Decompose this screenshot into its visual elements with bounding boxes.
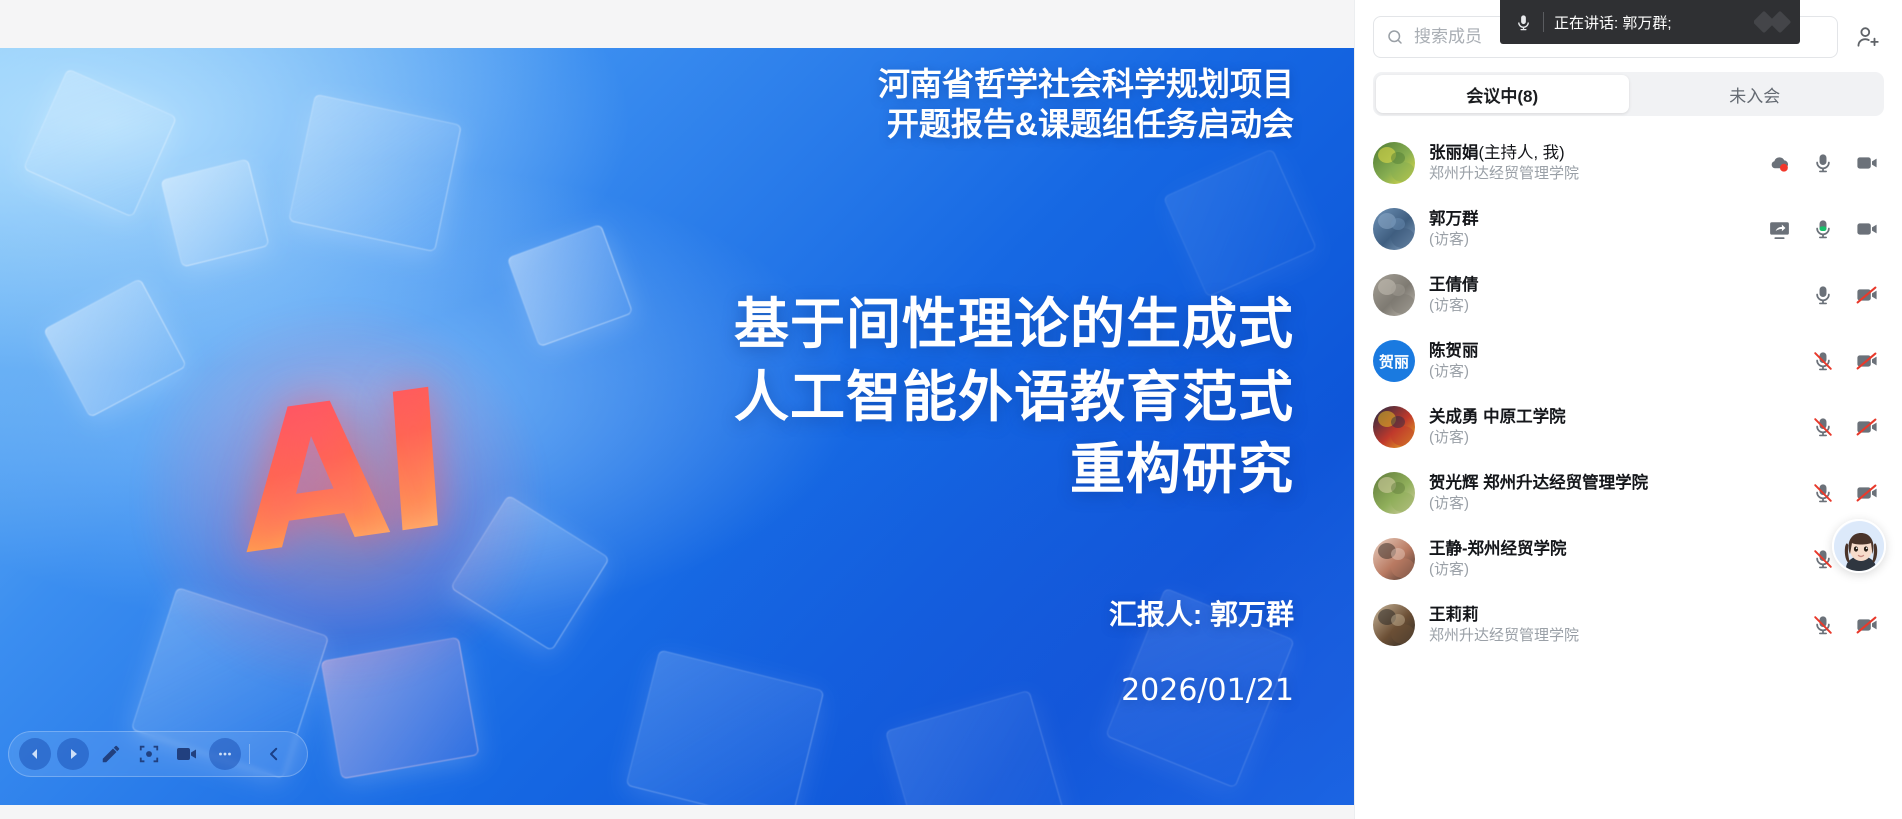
presentation-slide[interactable]: AI 河南省哲学社会科学规划项目 开题报告&课题组任务启动会 基于间性理论的生成… bbox=[0, 48, 1354, 805]
participant-info: 王静-郑州经贸学院(访客) bbox=[1429, 538, 1810, 581]
microphone-icon[interactable] bbox=[1810, 282, 1836, 308]
pencil-icon bbox=[100, 743, 122, 765]
microphone-glyph bbox=[1812, 350, 1834, 372]
participant-name: 郭万群 bbox=[1429, 208, 1766, 230]
camera-icon bbox=[175, 742, 199, 766]
slide-header-line2: 开题报告&课题组任务启动会 bbox=[878, 104, 1294, 144]
avatar bbox=[1373, 274, 1415, 316]
glass-cube-decor bbox=[23, 68, 177, 217]
microphone-icon[interactable] bbox=[1810, 216, 1836, 242]
participant-status-icons bbox=[1810, 480, 1880, 506]
camera-glyph bbox=[1855, 217, 1879, 241]
camera-icon[interactable] bbox=[1854, 150, 1880, 176]
microphone-icon[interactable] bbox=[1810, 150, 1836, 176]
screen-share-glyph bbox=[1768, 218, 1791, 241]
slide-title: 基于间性理论的生成式 人工智能外语教育范式 重构研究 bbox=[734, 288, 1294, 506]
avatar bbox=[1373, 406, 1415, 448]
microphone-icon[interactable] bbox=[1810, 612, 1836, 638]
add-member-button[interactable] bbox=[1848, 17, 1888, 57]
participant-name: 王倩倩 bbox=[1429, 274, 1810, 296]
participants-panel: 会议中(8) 未入会 张丽娟(主持人, 我)郑州升达经贸管理学院郭万群(访客)王… bbox=[1354, 0, 1902, 819]
participant-name: 王莉莉 bbox=[1429, 604, 1810, 626]
camera-glyph bbox=[1855, 481, 1879, 505]
collapse-toolbar-button[interactable] bbox=[258, 738, 290, 770]
shared-screen-stage: AI 河南省哲学社会科学规划项目 开题报告&课题组任务启动会 基于间性理论的生成… bbox=[0, 0, 1354, 819]
toast-decoration-icon bbox=[1754, 6, 1794, 43]
microphone-icon[interactable] bbox=[1810, 414, 1836, 440]
more-options-button[interactable] bbox=[209, 738, 241, 770]
participant-row[interactable]: 王静-郑州经贸学院(访客) bbox=[1355, 526, 1902, 592]
microphone-glyph bbox=[1812, 416, 1834, 438]
camera-icon[interactable] bbox=[1854, 480, 1880, 506]
slide-date: 2026/01/21 bbox=[1121, 673, 1294, 708]
play-slide-button[interactable] bbox=[57, 738, 89, 770]
glass-cube-decor bbox=[1163, 148, 1317, 297]
participant-subtitle: (访客) bbox=[1429, 494, 1810, 514]
chevron-left-circle-icon bbox=[27, 746, 43, 762]
microphone-glyph bbox=[1812, 614, 1834, 636]
toolbar-divider bbox=[249, 744, 250, 764]
participant-info: 陈贺丽(访客) bbox=[1429, 340, 1810, 383]
participant-subtitle: (访客) bbox=[1429, 362, 1810, 382]
self-video-avatar[interactable] bbox=[1832, 519, 1886, 573]
glass-cube-decor bbox=[160, 158, 269, 267]
participant-row[interactable]: 贺丽陈贺丽(访客) bbox=[1355, 328, 1902, 394]
cloud-recording-icon[interactable] bbox=[1766, 150, 1792, 176]
meeting-window: AI 河南省哲学社会科学规划项目 开题报告&课题组任务启动会 基于间性理论的生成… bbox=[0, 0, 1902, 819]
camera-glyph bbox=[1855, 151, 1879, 175]
participant-status-icons bbox=[1810, 414, 1880, 440]
slide-presenter: 汇报人: 郭万群 bbox=[1109, 593, 1294, 633]
participant-info: 关成勇 中原工学院(访客) bbox=[1429, 406, 1810, 449]
slide-title-line2: 人工智能外语教育范式 bbox=[734, 361, 1294, 434]
microphone-icon bbox=[1514, 13, 1533, 32]
microphone-glyph bbox=[1812, 218, 1834, 240]
laser-pointer-button[interactable] bbox=[133, 738, 165, 770]
participant-subtitle: (访客) bbox=[1429, 560, 1810, 580]
participant-row[interactable]: 王莉莉郑州升达经贸管理学院 bbox=[1355, 592, 1902, 658]
participant-info: 张丽娟(主持人, 我)郑州升达经贸管理学院 bbox=[1429, 142, 1766, 185]
participant-tabs: 会议中(8) 未入会 bbox=[1373, 72, 1884, 116]
search-icon bbox=[1386, 28, 1404, 46]
participant-status-icons bbox=[1766, 150, 1880, 176]
play-circle-icon bbox=[65, 746, 81, 762]
screen-share-icon[interactable] bbox=[1766, 216, 1792, 242]
participant-status-icons bbox=[1766, 216, 1880, 242]
participant-status-icons bbox=[1810, 282, 1880, 308]
participant-row[interactable]: 张丽娟(主持人, 我)郑州升达经贸管理学院 bbox=[1355, 130, 1902, 196]
ellipsis-icon bbox=[216, 745, 234, 763]
tab-in-meeting[interactable]: 会议中(8) bbox=[1376, 75, 1629, 113]
participant-info: 王莉莉郑州升达经贸管理学院 bbox=[1429, 604, 1810, 647]
focus-target-icon bbox=[138, 743, 160, 765]
participant-subtitle: (访客) bbox=[1429, 428, 1810, 448]
camera-glyph bbox=[1855, 415, 1879, 439]
participant-name: 关成勇 中原工学院 bbox=[1429, 406, 1810, 428]
participant-subtitle: (访客) bbox=[1429, 296, 1810, 316]
participant-subtitle: (访客) bbox=[1429, 230, 1766, 250]
previous-slide-button[interactable] bbox=[19, 738, 51, 770]
participant-info: 郭万群(访客) bbox=[1429, 208, 1766, 251]
glass-cube-decor bbox=[626, 650, 825, 805]
participant-row[interactable]: 郭万群(访客) bbox=[1355, 196, 1902, 262]
toast-divider bbox=[1543, 12, 1544, 32]
microphone-glyph bbox=[1812, 482, 1834, 504]
camera-icon[interactable] bbox=[1854, 282, 1880, 308]
participant-row[interactable]: 贺光辉 郑州升达经贸管理学院(访客) bbox=[1355, 460, 1902, 526]
avatar bbox=[1373, 472, 1415, 514]
add-person-icon bbox=[1855, 24, 1881, 50]
camera-glyph bbox=[1855, 349, 1879, 373]
participant-name: 贺光辉 郑州升达经贸管理学院 bbox=[1429, 472, 1810, 494]
glass-cube-decor bbox=[288, 94, 462, 252]
avatar bbox=[1373, 208, 1415, 250]
avatar bbox=[1373, 538, 1415, 580]
slide-header-line1: 河南省哲学社会科学规划项目 bbox=[878, 64, 1294, 104]
participant-list: 张丽娟(主持人, 我)郑州升达经贸管理学院郭万群(访客)王倩倩(访客)贺丽陈贺丽… bbox=[1355, 120, 1902, 658]
chevron-left-icon bbox=[265, 745, 283, 763]
ai-graphic-text: AI bbox=[234, 364, 451, 583]
microphone-glyph bbox=[1812, 548, 1834, 570]
participant-status-icons bbox=[1810, 348, 1880, 374]
microphone-icon[interactable] bbox=[1810, 480, 1836, 506]
slide-title-line1: 基于间性理论的生成式 bbox=[734, 288, 1294, 361]
participant-name: 陈贺丽 bbox=[1429, 340, 1810, 362]
video-button[interactable] bbox=[171, 738, 203, 770]
camera-icon[interactable] bbox=[1854, 216, 1880, 242]
participant-info: 王倩倩(访客) bbox=[1429, 274, 1810, 317]
camera-glyph bbox=[1855, 613, 1879, 637]
participant-status-icons bbox=[1810, 612, 1880, 638]
microphone-glyph bbox=[1812, 152, 1834, 174]
slide-title-line3: 重构研究 bbox=[734, 433, 1294, 506]
glass-cube-decor bbox=[885, 690, 1065, 805]
annotate-pen-button[interactable] bbox=[95, 738, 127, 770]
participant-name: 王静-郑州经贸学院 bbox=[1429, 538, 1810, 560]
tab-not-joined[interactable]: 未入会 bbox=[1629, 75, 1882, 113]
slide-toolbar bbox=[8, 731, 308, 777]
speaking-label: 正在讲话: 郭万群; bbox=[1554, 12, 1672, 33]
avatar bbox=[1373, 142, 1415, 184]
camera-icon[interactable] bbox=[1854, 612, 1880, 638]
participant-row[interactable]: 王倩倩(访客) bbox=[1355, 262, 1902, 328]
speaking-toast: 正在讲话: 郭万群; bbox=[1500, 0, 1800, 44]
avatar: 贺丽 bbox=[1373, 340, 1415, 382]
cloud-recording-glyph bbox=[1768, 152, 1791, 175]
camera-icon[interactable] bbox=[1854, 348, 1880, 374]
microphone-glyph bbox=[1812, 284, 1834, 306]
participant-subtitle: 郑州升达经贸管理学院 bbox=[1429, 626, 1810, 646]
participant-name: 张丽娟(主持人, 我) bbox=[1429, 142, 1766, 164]
participant-info: 贺光辉 郑州升达经贸管理学院(访客) bbox=[1429, 472, 1810, 515]
participant-row[interactable]: 关成勇 中原工学院(访客) bbox=[1355, 394, 1902, 460]
slide-header: 河南省哲学社会科学规划项目 开题报告&课题组任务启动会 bbox=[878, 64, 1294, 144]
participant-subtitle: 郑州升达经贸管理学院 bbox=[1429, 164, 1766, 184]
camera-glyph bbox=[1855, 283, 1879, 307]
avatar bbox=[1373, 604, 1415, 646]
microphone-icon[interactable] bbox=[1810, 348, 1836, 374]
camera-icon[interactable] bbox=[1854, 414, 1880, 440]
